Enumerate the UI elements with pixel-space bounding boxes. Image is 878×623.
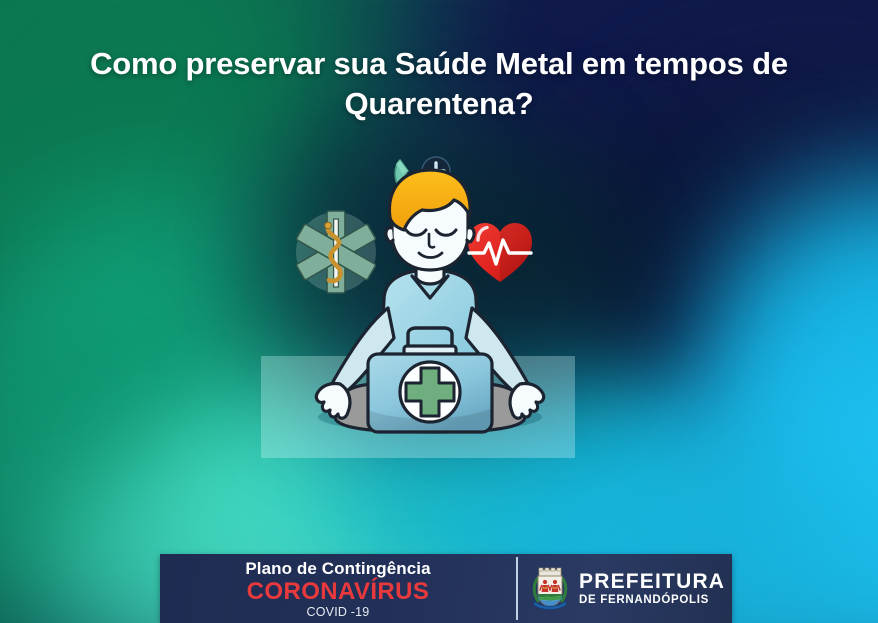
left-hand [316,383,350,418]
meditation-illustration [278,152,578,464]
banner-left-section: Plano de Contingência CORONAVÍRUS COVID … [160,554,516,623]
page-title: Como preservar sua Saúde Metal em tempos… [0,44,878,123]
banner-divider [516,557,518,620]
poster-image: Como preservar sua Saúde Metal em tempos… [0,0,878,623]
coronavirus-label: CORONAVÍRUS [247,579,430,604]
star-of-life-asclepius-icon [296,211,376,293]
heart-pulse-icon [468,223,532,282]
contingency-plan-banner: Plano de Contingência CORONAVÍRUS COVID … [160,554,732,623]
banner-right-section: PREFEITURA DE FERNANDÓPOLIS [518,554,732,623]
cidade-label: DE FERNANDÓPOLIS [579,595,725,607]
plano-contingencia-label: Plano de Contingência [245,560,430,578]
prefeitura-label: PREFEITURA [579,571,725,592]
prefeitura-logo-text: PREFEITURA DE FERNANDÓPOLIS [579,571,725,607]
coat-of-arms-icon [532,567,568,611]
right-hand [510,383,544,418]
covid-19-label: COVID -19 [307,605,370,619]
